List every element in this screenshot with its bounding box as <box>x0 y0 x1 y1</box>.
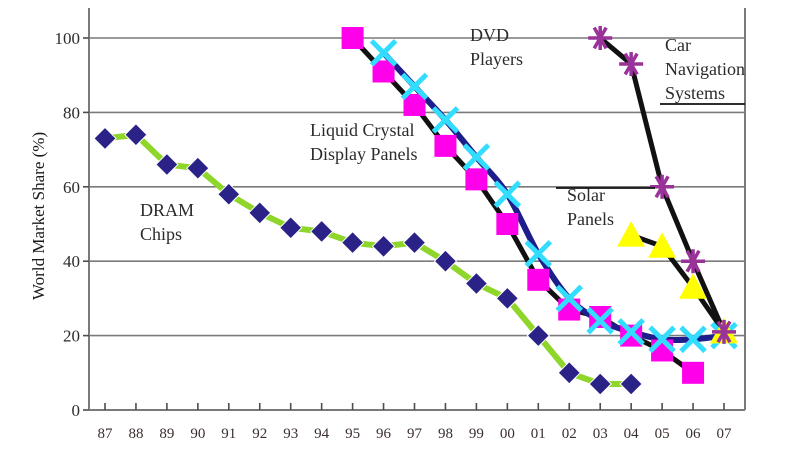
data-point-square <box>465 168 487 190</box>
x-tick-label: 06 <box>686 426 702 442</box>
annotation-line: Navigation <box>665 59 745 79</box>
data-point-square <box>589 306 611 328</box>
annotation-line: Liquid Crystal <box>310 120 415 140</box>
x-tick-label: 05 <box>655 426 670 442</box>
y-tick-label: 20 <box>63 327 80 346</box>
y-tick-label: 60 <box>63 178 80 197</box>
x-tick-label: 00 <box>500 426 515 442</box>
x-tick-label: 02 <box>562 426 577 442</box>
y-tick-label: 80 <box>63 103 80 122</box>
x-tick-label: 93 <box>283 426 298 442</box>
data-point-cross <box>495 182 519 206</box>
x-tick-label: 92 <box>252 426 267 442</box>
x-tick-label: 07 <box>717 426 733 442</box>
annotation-line: Systems <box>665 83 725 103</box>
data-point-square <box>620 325 642 347</box>
series-line-3 <box>631 235 724 332</box>
chart-container: 100806040200 878889909192939495969798990… <box>0 0 800 455</box>
x-tick-label: 91 <box>221 426 236 442</box>
x-tick-label: 87 <box>98 426 114 442</box>
annotation-line: Players <box>470 49 523 69</box>
annotation-line: Display Panels <box>310 144 418 164</box>
data-point-diamond <box>342 232 364 254</box>
data-point-square <box>434 135 456 157</box>
x-tick-label: 94 <box>314 426 330 442</box>
y-tick-label: 0 <box>72 401 81 420</box>
x-axis-tick-labels: 8788899091929394959697989900010203040506… <box>98 426 733 442</box>
data-point-diamond <box>620 373 642 395</box>
x-tick-label: 96 <box>376 426 392 442</box>
series-annotation: CarNavigationSystems <box>665 35 745 103</box>
annotation-line: Chips <box>140 224 182 244</box>
data-point-diamond <box>280 217 302 239</box>
annotation-line: Panels <box>567 209 614 229</box>
series-annotations: DRAMChipsLiquid CrystalDisplay PanelsDVD… <box>140 25 745 244</box>
x-tick-label: 89 <box>159 426 174 442</box>
data-point-square <box>496 213 518 235</box>
data-point-asterisk <box>681 249 705 273</box>
data-point-cross <box>526 242 550 266</box>
y-tick-label: 40 <box>63 252 80 271</box>
x-tick-label: 88 <box>128 426 143 442</box>
x-tick-label: 03 <box>593 426 608 442</box>
series-line-0 <box>105 135 631 384</box>
data-point-cross <box>433 108 457 132</box>
data-point-diamond <box>373 235 395 257</box>
series-annotation: DRAMChips <box>140 200 194 244</box>
data-point-asterisk <box>650 175 674 199</box>
x-tick-label: 98 <box>438 426 453 442</box>
x-tick-label: 95 <box>345 426 360 442</box>
data-point-square <box>342 27 364 49</box>
x-tick-label: 99 <box>469 426 484 442</box>
y-tick-label: 100 <box>55 29 81 48</box>
series-annotation: Liquid CrystalDisplay Panels <box>310 120 418 164</box>
x-tick-label: 90 <box>190 426 205 442</box>
series-annotation: DVDPlayers <box>470 25 523 69</box>
data-point-diamond <box>311 220 333 242</box>
x-tick-label: 04 <box>624 426 640 442</box>
y-axis-title: World Market Share (%) <box>29 132 48 300</box>
annotation-line: Car <box>665 35 691 55</box>
y-axis-tick-labels: 100806040200 <box>55 29 90 420</box>
data-point-cross <box>464 145 488 169</box>
data-point-square <box>527 269 549 291</box>
data-point-diamond <box>589 373 611 395</box>
annotation-line: DRAM <box>140 200 194 220</box>
data-point-triangle <box>617 221 645 246</box>
x-tick-label: 01 <box>531 426 546 442</box>
x-tick-label: 97 <box>407 426 423 442</box>
annotation-line: DVD <box>470 25 509 45</box>
x-axis-ticks <box>105 403 724 410</box>
series-annotation: SolarPanels <box>567 185 614 229</box>
annotation-line: Solar <box>567 185 605 205</box>
data-point-square <box>682 362 704 384</box>
market-share-line-chart: 100806040200 878889909192939495969798990… <box>0 0 800 455</box>
data-point-diamond <box>94 127 116 149</box>
